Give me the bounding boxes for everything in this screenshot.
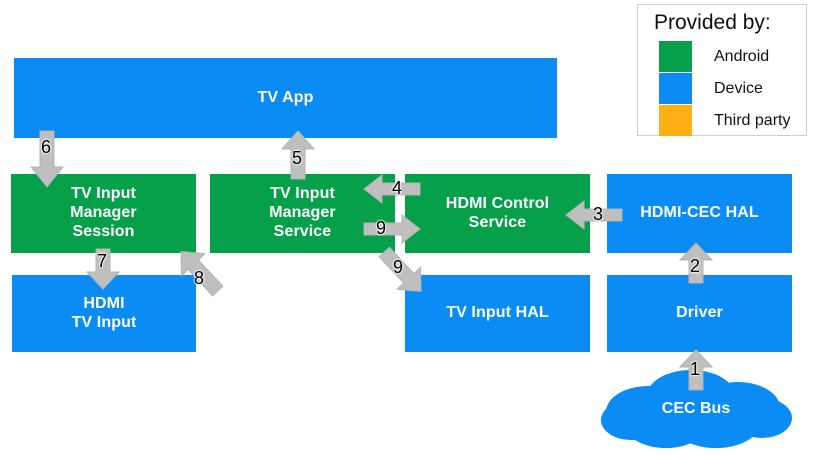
legend-label-third-party: Third party (714, 112, 790, 130)
node-label-hdmi-cec-hal: HDMI-CEC HAL (607, 204, 792, 223)
legend-item-device: Device (659, 73, 763, 104)
legend-label-android: Android (714, 48, 769, 66)
legend-swatch-android (659, 41, 692, 72)
node-label-driver: Driver (607, 304, 792, 323)
arrow-4-label: 4 (392, 178, 402, 199)
node-label-tv-app: TV App (14, 89, 557, 108)
arrow-2-driver-to-hdmi-cec-hal: 2 (679, 243, 713, 283)
node-tv-app: TV App (14, 58, 557, 138)
arrow-9a-label: 9 (376, 218, 386, 239)
node-label-hdmi-tv-input: HDMI TV Input (12, 295, 196, 333)
arrow-7-tv-input-manager-session-to-hdmi-tv-input: 7 (86, 249, 120, 289)
arrow-1-label: 1 (690, 359, 700, 380)
legend-item-android: Android (659, 41, 769, 72)
arrow-5-tv-input-manager-service-to-tv-app: 5 (281, 131, 315, 179)
arrow-6-label: 6 (41, 137, 51, 158)
node-hdmi-cec-hal: HDMI-CEC HAL (607, 174, 792, 253)
legend-label-device: Device (714, 80, 763, 98)
arrow-9b-label: 9 (393, 257, 403, 278)
arrow-5-label: 5 (292, 148, 302, 169)
legend-swatch-device (659, 73, 692, 104)
arrow-6-tv-app-to-tv-input-manager-session: 6 (30, 131, 64, 187)
node-label-tv-input-manager-session: TV Input Manager Session (11, 185, 196, 242)
arrow-9-tv-input-manager-service-to-hdmi-control-service: 9 (364, 215, 420, 243)
legend-panel: Provided by: Android Device Third party (637, 4, 807, 136)
arrow-8-hdmi-tv-input-to-tv-input-manager-service: 8 (170, 244, 230, 300)
arrow-4-hdmi-control-service-to-tv-input-manager-service: 4 (364, 175, 420, 203)
arrow-3-label: 3 (593, 204, 603, 225)
legend-item-third-party: Third party (659, 105, 790, 136)
node-driver: Driver (607, 275, 792, 352)
node-label-cec-bus: CEC Bus (596, 400, 796, 418)
node-label-tv-input-hal: TV Input HAL (405, 304, 590, 323)
node-hdmi-control-service: HDMI Control Service (405, 174, 590, 253)
architecture-diagram: TV App TV Input Manager Session TV Input… (0, 0, 817, 457)
arrow-3-hdmi-cec-hal-to-hdmi-control-service: 3 (566, 201, 622, 229)
node-tv-input-hal: TV Input HAL (405, 275, 590, 352)
arrow-9-tv-input-manager-service-to-tv-input-hal: 9 (372, 243, 432, 299)
legend-swatch-third-party (659, 105, 692, 136)
legend-title: Provided by: (654, 11, 771, 35)
arrow-8-label: 8 (194, 268, 204, 289)
arrow-1-cec-bus-to-driver: 1 (679, 350, 713, 390)
arrow-7-label: 7 (97, 251, 107, 272)
node-label-hdmi-control-service: HDMI Control Service (405, 195, 590, 233)
arrow-2-label: 2 (690, 256, 700, 277)
